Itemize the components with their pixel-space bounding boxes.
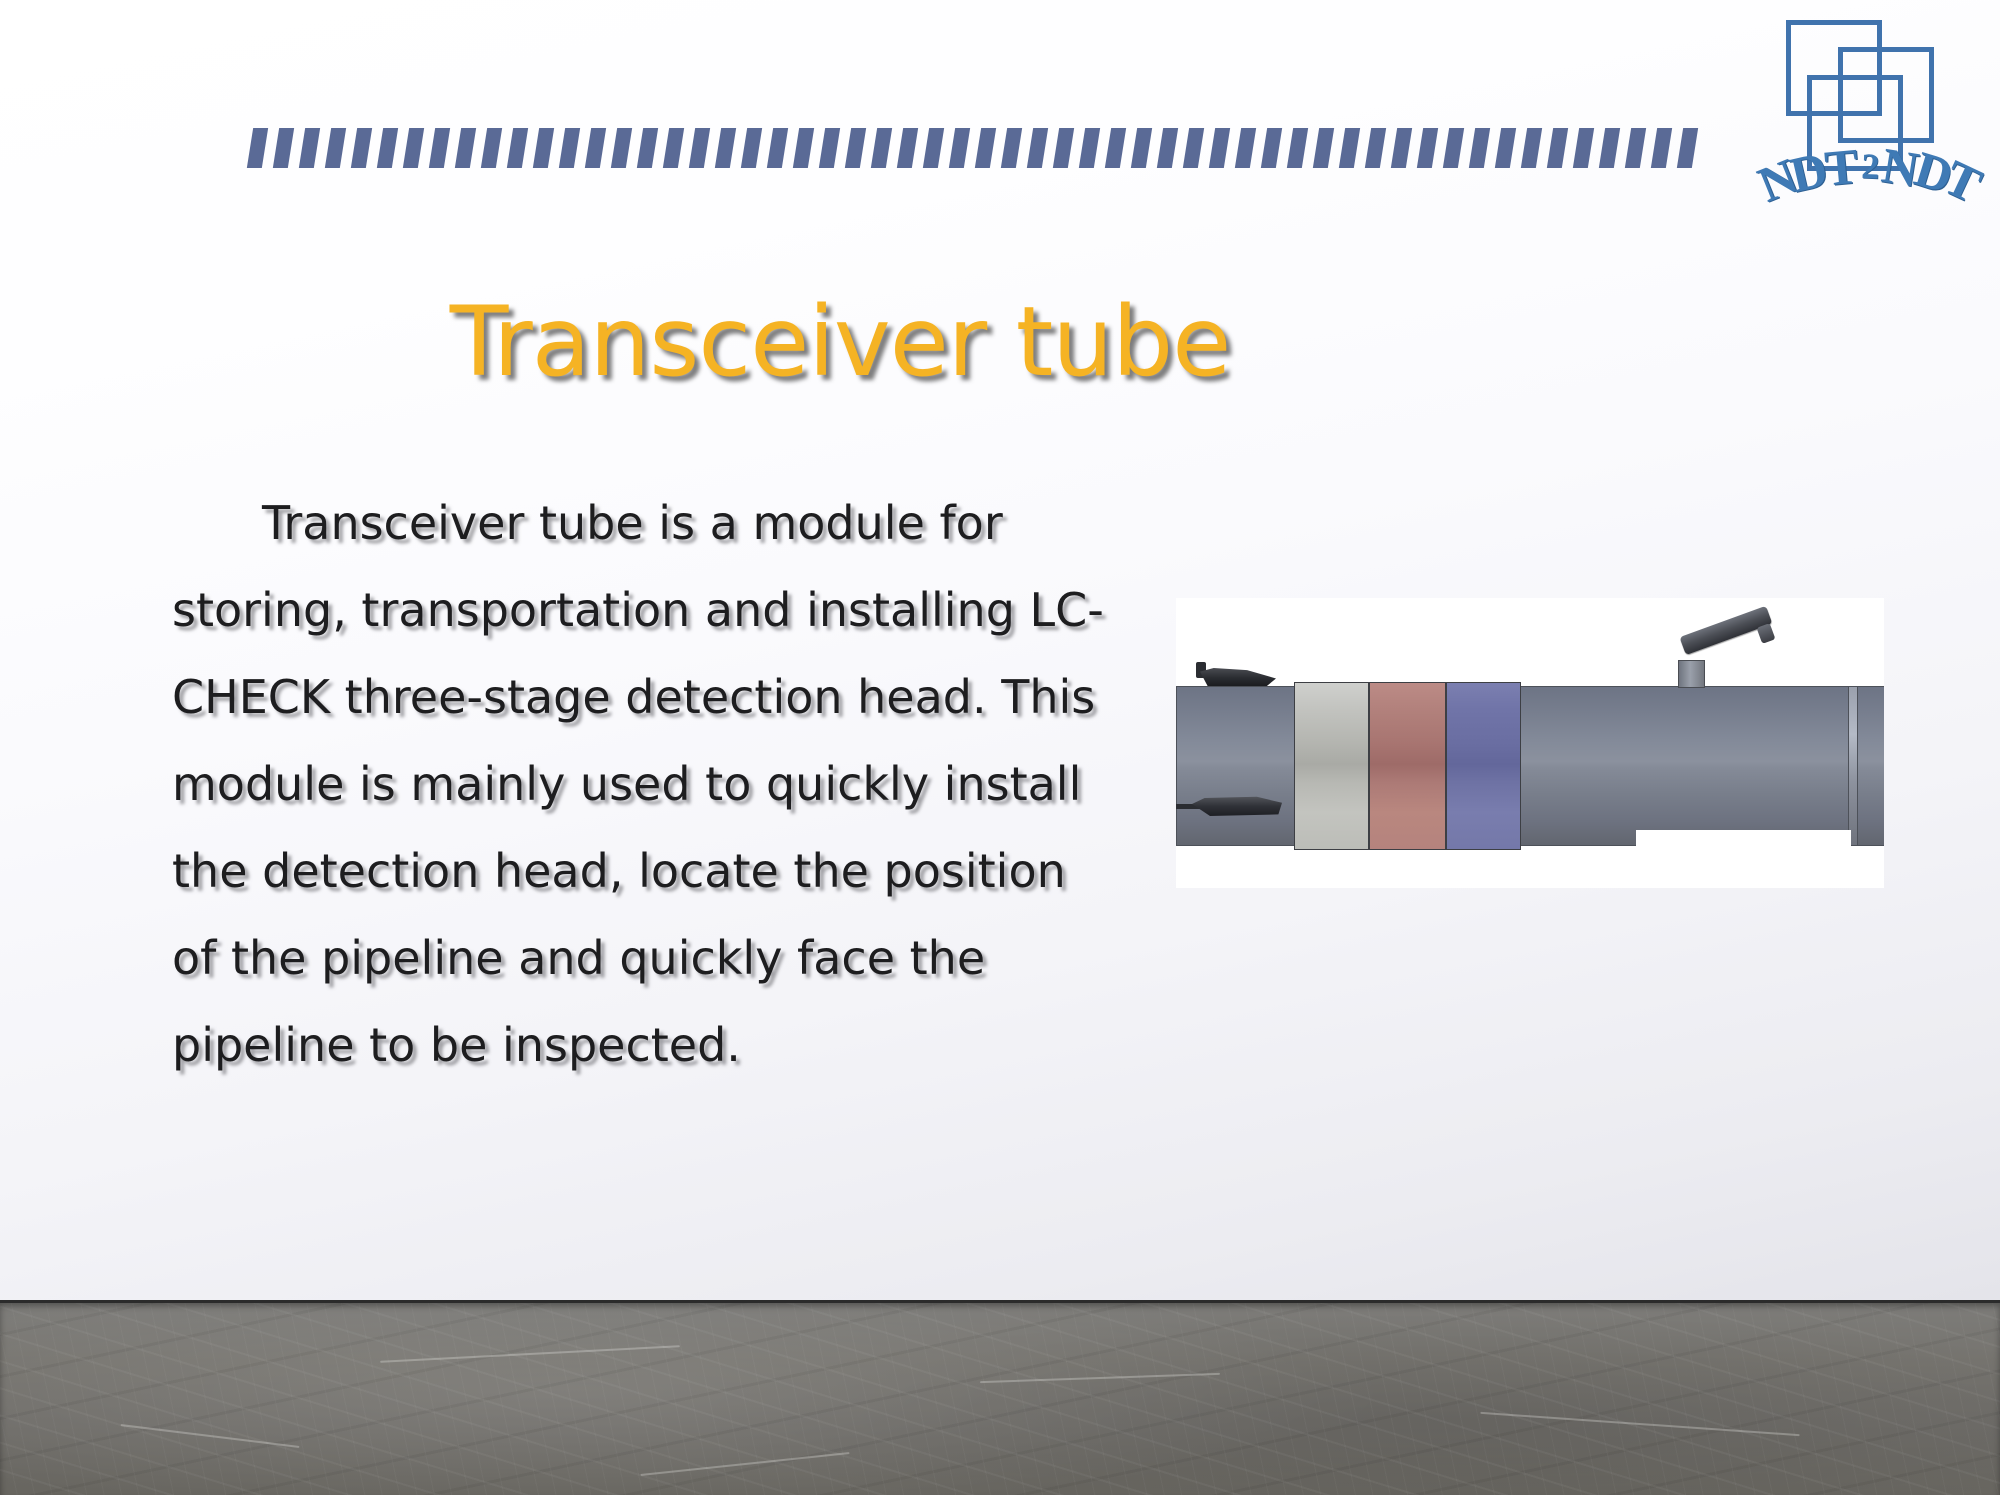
band-red-section [1369, 682, 1446, 850]
slanted-dash-icon [1547, 128, 1568, 168]
band-grey-section [1294, 682, 1369, 850]
slanted-dash-icon [1521, 128, 1542, 168]
slanted-dash-icon [715, 128, 736, 168]
slanted-dash-icon [1417, 128, 1438, 168]
slanted-dash-icon [325, 128, 346, 168]
slanted-dash-icon [1053, 128, 1074, 168]
slanted-dash-icon [455, 128, 476, 168]
slanted-dash-icon [1339, 128, 1360, 168]
transceiver-tube-figure [1176, 598, 1884, 888]
slanted-dash-icon [1573, 128, 1594, 168]
slanted-dash-icon [1235, 128, 1256, 168]
slanted-dash-icon [377, 128, 398, 168]
slanted-dash-icon [1313, 128, 1334, 168]
tube-body [1176, 686, 1884, 846]
slanted-dash-icon [767, 128, 788, 168]
floor-texture-strip [0, 1300, 2000, 1495]
floor-scratch [980, 1373, 1220, 1383]
slanted-dash-icon [1079, 128, 1100, 168]
slanted-dash-icon [481, 128, 502, 168]
slanted-dash-icon [1001, 128, 1022, 168]
slanted-dash-icon [897, 128, 918, 168]
slanted-dash-icon [637, 128, 658, 168]
slanted-dash-icon [975, 128, 996, 168]
band-blue-section [1446, 682, 1521, 850]
slanted-dash-icon [559, 128, 580, 168]
slanted-dash-icon [1391, 128, 1412, 168]
slanted-dash-icon [949, 128, 970, 168]
slanted-dash-icon [611, 128, 632, 168]
slanted-dash-icon [819, 128, 840, 168]
slanted-dash-icon [533, 128, 554, 168]
lever-post [1678, 660, 1705, 688]
tube-end-face [1848, 686, 1858, 846]
slanted-dash-icon [1651, 128, 1672, 168]
floor-scratch [380, 1345, 680, 1363]
slanted-dash-icon [1625, 128, 1646, 168]
slanted-dash-icon [663, 128, 684, 168]
slanted-dash-icon [273, 128, 294, 168]
ndt2ndt-logo: N D T 2 N D T [1778, 12, 1978, 202]
slanted-dash-icon [1495, 128, 1516, 168]
slanted-dash-icon [351, 128, 372, 168]
floor-scratch [121, 1424, 300, 1448]
slanted-dash-icon [1469, 128, 1490, 168]
slanted-dash-icon [507, 128, 528, 168]
slanted-dash-icon [1287, 128, 1308, 168]
decorative-dash-band [250, 128, 1690, 168]
slanted-dash-icon [793, 128, 814, 168]
lever-knob [1757, 623, 1776, 644]
slanted-dash-icon [923, 128, 944, 168]
slanted-dash-icon [429, 128, 450, 168]
slide-title: Transceiver tube [0, 286, 1680, 398]
slanted-dash-icon [1183, 128, 1204, 168]
slanted-dash-icon [845, 128, 866, 168]
logo-letter: 2 [1860, 145, 1879, 187]
slide-body-paragraph: Transceiver tube is a module for storing… [172, 480, 1122, 1089]
slanted-dash-icon [585, 128, 606, 168]
floor-scratch [640, 1452, 849, 1476]
slanted-dash-icon [1105, 128, 1126, 168]
slanted-dash-icon [1443, 128, 1464, 168]
slanted-dash-icon [1209, 128, 1230, 168]
slanted-dash-icon [1157, 128, 1178, 168]
logo-wordmark: N D T 2 N D T [1762, 140, 1977, 200]
slanted-dash-icon [247, 128, 268, 168]
slanted-dash-icon [1027, 128, 1048, 168]
slanted-dash-icon [1261, 128, 1282, 168]
tube-bottom-notch [1636, 830, 1851, 848]
slanted-dash-icon [689, 128, 710, 168]
slanted-dash-icon [871, 128, 892, 168]
slanted-dash-icon [1365, 128, 1386, 168]
top-clamp-latch [1200, 668, 1276, 686]
floor-scratch [1480, 1412, 1799, 1436]
slanted-dash-icon [1131, 128, 1152, 168]
slanted-dash-icon [403, 128, 424, 168]
presentation-slide: N D T 2 N D T Transceiver tube Transceiv… [0, 0, 2000, 1495]
slanted-dash-icon [741, 128, 762, 168]
slanted-dash-icon [1599, 128, 1620, 168]
slanted-dash-icon [299, 128, 320, 168]
logo-letter: T [1823, 137, 1860, 198]
